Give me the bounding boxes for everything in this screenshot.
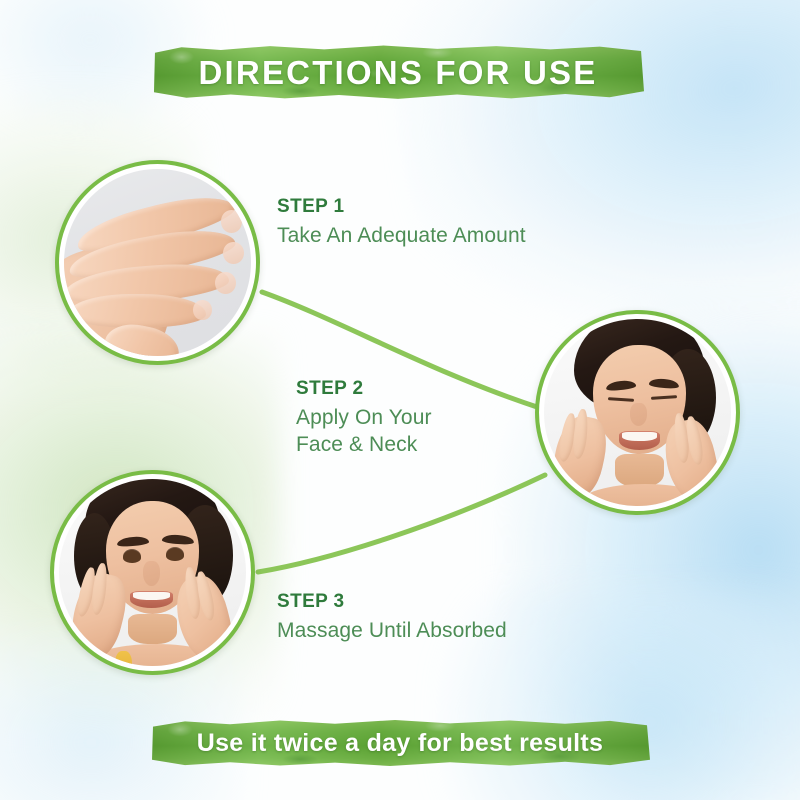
- step-1-image-circle: [55, 160, 260, 365]
- step-2-description-line-1: Apply On Your: [296, 404, 432, 431]
- step-3-label: STEP 3: [277, 591, 507, 613]
- open-palm-fingers-illustration: [64, 169, 251, 356]
- woman-massaging-face-illustration: [59, 479, 246, 666]
- step-2-text-block: STEP 2 Apply On Your Face & Neck: [296, 378, 432, 459]
- step-3-description: Massage Until Absorbed: [277, 617, 507, 644]
- directions-for-use-poster: DIRECTIONS FOR USE: [0, 0, 800, 800]
- step-2-description-line-2: Face & Neck: [296, 431, 432, 458]
- step-3-photo: [59, 479, 246, 666]
- footer-text: Use it twice a day for best results: [197, 729, 603, 758]
- woman-applying-cream-illustration: [544, 319, 731, 506]
- step-3-text-block: STEP 3 Massage Until Absorbed: [277, 591, 507, 644]
- step-1-text-block: STEP 1 Take An Adequate Amount: [277, 196, 526, 249]
- step-1-photo: [64, 169, 251, 356]
- connector-step2-to-step3: [258, 475, 545, 572]
- step-1-label: STEP 1: [277, 196, 526, 218]
- step-2-label: STEP 2: [296, 378, 432, 400]
- step-2-image-circle: [535, 310, 740, 515]
- step-2-photo: [544, 319, 731, 506]
- step-1-description: Take An Adequate Amount: [277, 222, 526, 249]
- footer-banner: Use it twice a day for best results: [150, 719, 650, 767]
- step-3-image-circle: [50, 470, 255, 675]
